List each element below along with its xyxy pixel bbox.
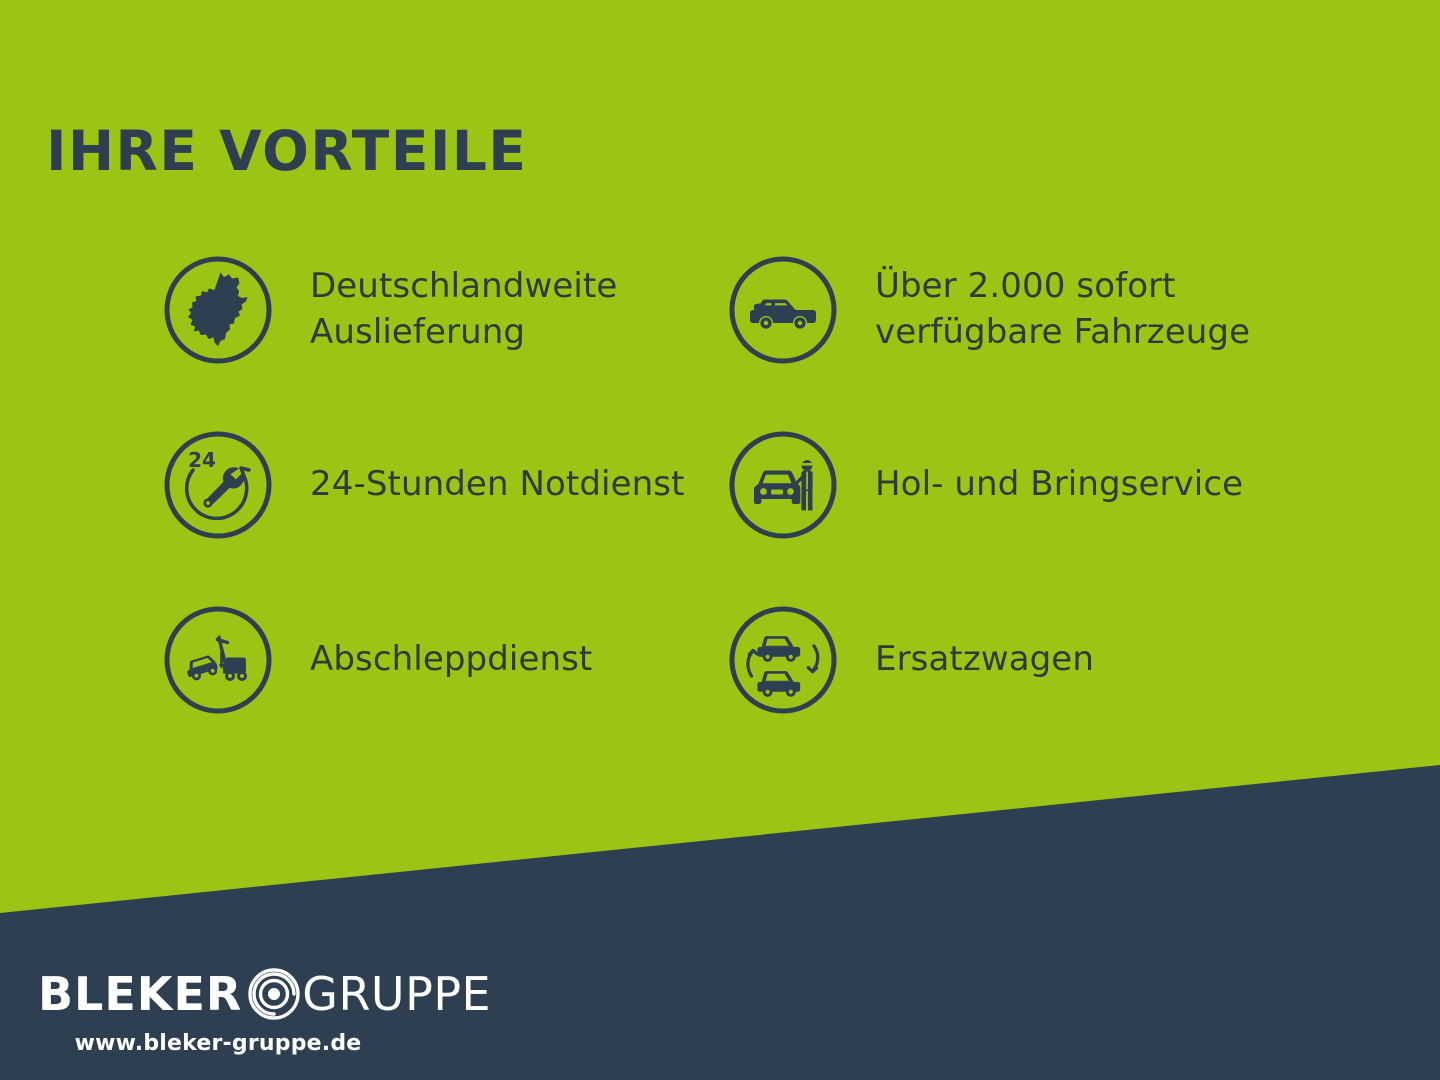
logo-website-url[interactable]: www.bleker-gruppe.de — [38, 1031, 398, 1056]
tow-truck-icon — [160, 602, 276, 718]
benefit-item-deutschlandweite-auslieferung: Deutschlandweite Auslieferung — [160, 222, 725, 397]
benefit-item-verfuegbare-fahrzeuge: Über 2.000 sofort verfügbare Fahrzeuge — [725, 222, 1325, 397]
germany-map-icon — [160, 252, 276, 368]
benefit-item-abschleppdienst: Abschleppdienst — [160, 572, 725, 747]
benefit-label: Über 2.000 sofort verfügbare Fahrzeuge — [875, 264, 1325, 354]
spiral-logo-icon — [246, 966, 302, 1022]
svg-text:24: 24 — [188, 448, 216, 472]
benefit-item-hol-und-bringservice: Hol- und Bringservice — [725, 397, 1325, 572]
two-cars-swap-icon — [725, 602, 841, 718]
page-title: IHRE VORTEILE — [46, 123, 527, 181]
car-icon — [725, 252, 841, 368]
benefit-item-24-stunden-notdienst: 24 24-Stunden Notdienst — [160, 397, 725, 572]
benefit-label: Abschleppdienst — [310, 637, 592, 682]
car-attendant-icon — [725, 427, 841, 543]
slide: IHRE VORTEILE Deutschlandweite Ausliefer… — [0, 0, 1440, 1080]
benefit-label: 24-Stunden Notdienst — [310, 462, 685, 507]
24h-wrench-icon: 24 — [160, 427, 276, 543]
footer: BLEKER GRUPPE www.bleker-gruppe.de — [38, 963, 491, 1056]
benefit-label: Deutschlandweite Auslieferung — [310, 264, 725, 354]
logo-word-bleker: BLEKER — [38, 971, 242, 1017]
benefit-label: Ersatzwagen — [875, 637, 1094, 682]
benefit-item-ersatzwagen: Ersatzwagen — [725, 572, 1325, 747]
logo[interactable]: BLEKER GRUPPE — [38, 963, 491, 1025]
logo-word-gruppe: GRUPPE — [302, 971, 491, 1017]
benefit-label: Hol- und Bringservice — [875, 462, 1243, 507]
benefits-grid: Deutschlandweite Auslieferung Über 2.000… — [0, 222, 1440, 747]
